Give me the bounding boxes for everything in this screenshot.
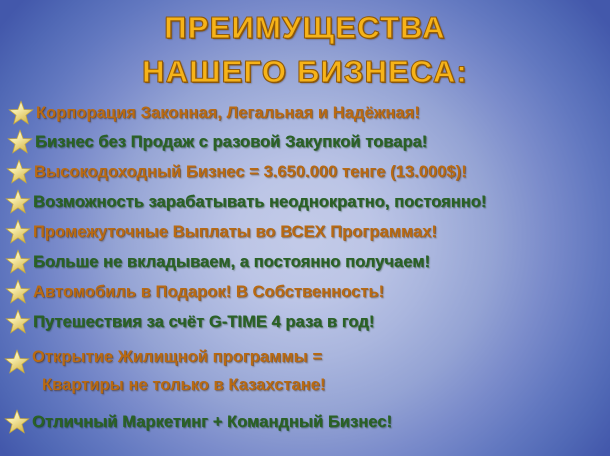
list-item: Высокодоходный Бизнес = 3.650.000 тенге … xyxy=(0,158,610,187)
star-icon xyxy=(5,279,31,305)
list-item: Автомобиль в Подарок! В Собственность! xyxy=(0,278,610,307)
star-icon xyxy=(5,189,31,215)
star-icon xyxy=(5,249,31,275)
benefits-list: Корпорация Законная, Легальная и Надёжна… xyxy=(0,99,610,437)
star-icon xyxy=(6,159,32,185)
list-item: Открытие Жилищной программы = Квартиры н… xyxy=(0,343,610,398)
list-item-label: Больше не вкладываем, а постоянно получа… xyxy=(33,248,610,277)
list-item-label-line-1: Открытие Жилищной программы = xyxy=(32,348,322,366)
list-item: Промежуточные Выплаты во ВСЕХ Программах… xyxy=(0,218,610,247)
list-item: Бизнес без Продаж с разовой Закупкой тов… xyxy=(0,128,610,157)
slide-title: ПРЕИМУЩЕСТВА НАШЕГО БИЗНЕСА: xyxy=(0,6,610,94)
list-item: Больше не вкладываем, а постоянно получа… xyxy=(0,248,610,277)
list-item-label: Корпорация Законная, Легальная и Надёжна… xyxy=(36,99,610,128)
star-icon xyxy=(5,309,31,335)
list-item: Возможность зарабатывать неоднократно, п… xyxy=(0,188,610,217)
list-item-label: Промежуточные Выплаты во ВСЕХ Программах… xyxy=(33,218,610,247)
list-item: Корпорация Законная, Легальная и Надёжна… xyxy=(0,99,610,128)
title-line-2: НАШЕГО БИЗНЕСА: xyxy=(0,50,610,94)
title-line-1: ПРЕИМУЩЕСТВА xyxy=(0,6,610,50)
list-item-label: Открытие Жилищной программы = Квартиры н… xyxy=(32,343,610,398)
list-item-label: Путешествия за счёт G-TIME 4 раза в год! xyxy=(33,308,610,337)
star-icon xyxy=(7,129,33,155)
star-icon xyxy=(8,100,34,126)
presentation-slide: ПРЕИМУЩЕСТВА НАШЕГО БИЗНЕСА: Корпорация … xyxy=(0,0,610,456)
star-icon xyxy=(4,349,30,375)
list-item-label: Возможность зарабатывать неоднократно, п… xyxy=(33,188,610,217)
list-item-label: Автомобиль в Подарок! В Собственность! xyxy=(33,278,610,307)
list-item-label: Высокодоходный Бизнес = 3.650.000 тенге … xyxy=(34,158,610,187)
star-icon xyxy=(5,219,31,245)
list-item-label: Бизнес без Продаж с разовой Закупкой тов… xyxy=(35,128,610,157)
list-item: Отличный Маркетинг + Командный Бизнес! xyxy=(0,408,610,437)
list-item: Путешествия за счёт G-TIME 4 раза в год! xyxy=(0,308,610,337)
star-icon xyxy=(4,409,30,435)
list-item-label-line-2: Квартиры не только в Казахстане! xyxy=(32,372,610,398)
list-item-label: Отличный Маркетинг + Командный Бизнес! xyxy=(32,408,610,437)
